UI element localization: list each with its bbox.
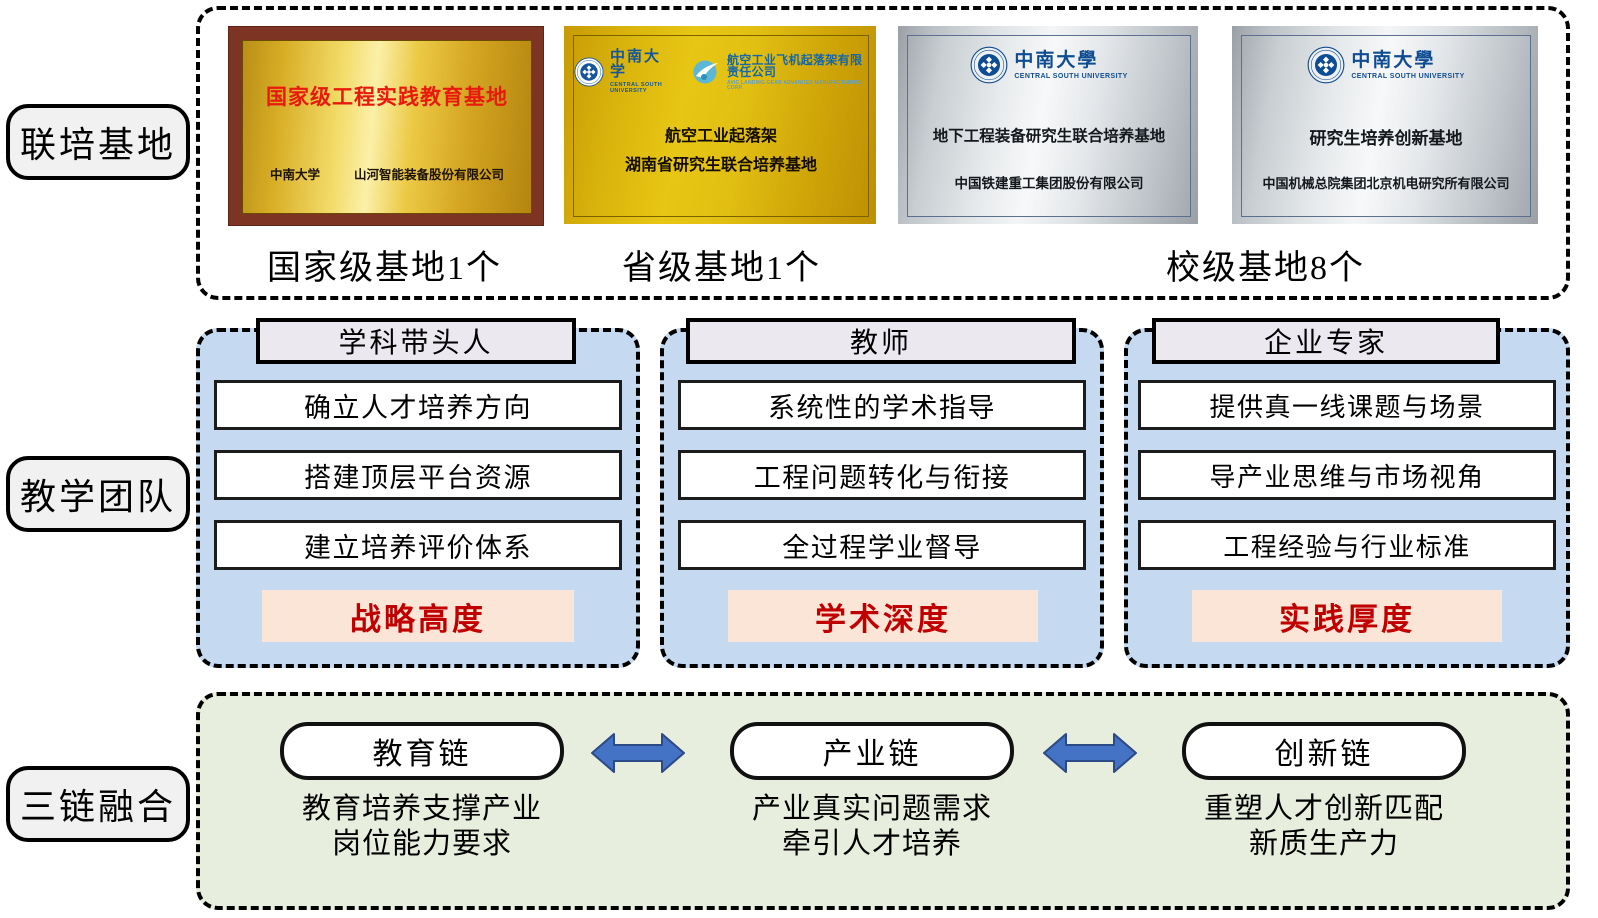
caption-province-base-count: 省级基地1个 xyxy=(622,240,821,289)
team-item: 导产业思维与市场视角 xyxy=(1138,450,1556,500)
csu-logo: 中南大學 CENTRAL SOUTH UNIVERSITY xyxy=(1307,46,1464,84)
row-label-text: 教学团队 xyxy=(20,468,176,520)
team-item: 提供真一线课题与场景 xyxy=(1138,380,1556,430)
csu-logo: 中南大学 CENTRAL SOUTH UNIVERSITY xyxy=(574,50,676,94)
team-item: 搭建顶层平台资源 xyxy=(214,450,622,500)
team-item: 全过程学业督导 xyxy=(678,520,1086,570)
diagram-canvas: 联培基地 教学团队 三链融合 国家级工程实践教育基地 中南大学 山河智能装备股份… xyxy=(0,0,1598,918)
chain-node-innovation: 创新链 xyxy=(1182,722,1466,780)
team-column-header: 学科带头人 xyxy=(256,318,576,364)
csu-logo-cn: 中南大學 xyxy=(1351,51,1464,70)
chain-desc-innovation: 重塑人才创新匹配新质生产力 xyxy=(1174,792,1474,863)
plaque-face: 中南大學 CENTRAL SOUTH UNIVERSITY 研究生培养创新基地 … xyxy=(1241,35,1531,217)
csu-seal-icon xyxy=(970,46,1008,84)
team-column-footer-badge: 实践厚度 xyxy=(1192,590,1502,642)
plaque-main-text: 研究生培养创新基地 xyxy=(1242,124,1530,149)
team-column-enterprise-expert: 企业专家 提供真一线课题与场景 导产业思维与市场视角 工程经验与行业标准 实践厚… xyxy=(1124,328,1570,668)
plaque-title: 国家级工程实践教育基地 xyxy=(243,81,531,111)
csu-logo-en: CENTRAL SOUTH UNIVERSITY xyxy=(1351,73,1464,80)
chain-desc-education: 教育培养支撑产业岗位能力要求 xyxy=(272,792,572,863)
plaque-org-university: 中南大学 xyxy=(270,164,320,183)
csu-logo-cn: 中南大学 xyxy=(610,50,676,80)
plaque-organizations: 中南大学 山河智能装备股份有限公司 xyxy=(243,164,531,183)
plaque-line-2: 湖南省研究生联合培养基地 xyxy=(574,151,868,175)
csu-logo: 中南大學 CENTRAL SOUTH UNIVERSITY xyxy=(970,46,1127,84)
plaque-national-base: 国家级工程实践教育基地 中南大学 山河智能装备股份有限公司 xyxy=(228,26,544,226)
csu-logo-words: 中南大学 CENTRAL SOUTH UNIVERSITY xyxy=(610,50,676,94)
csu-logo-words: 中南大學 CENTRAL SOUTH UNIVERSITY xyxy=(1014,51,1127,80)
row-label-three-chain-integration: 三链融合 xyxy=(6,766,190,842)
team-column-discipline-leader: 学科带头人 确立人才培养方向 搭建顶层平台资源 建立培养评价体系 战略高度 xyxy=(196,328,640,668)
team-item: 工程经验与行业标准 xyxy=(1138,520,1556,570)
double-arrow-icon xyxy=(590,730,686,776)
csu-logo-words: 中南大學 CENTRAL SOUTH UNIVERSITY xyxy=(1351,51,1464,80)
csu-logo-en: CENTRAL SOUTH UNIVERSITY xyxy=(1014,73,1127,80)
plaque-face: 国家级工程实践教育基地 中南大学 山河智能装备股份有限公司 xyxy=(242,40,532,214)
csu-logo-cn: 中南大學 xyxy=(1014,51,1127,70)
csu-seal-icon xyxy=(574,57,604,87)
avic-logo-cn: 航空工业飞机起落架有限责任公司 xyxy=(727,54,868,78)
caption-national-base-count: 国家级基地1个 xyxy=(267,240,502,289)
plaque-province-base: 中南大学 CENTRAL SOUTH UNIVERSITY 航空工业飞机起落架有… xyxy=(564,26,876,224)
row-label-teaching-team: 教学团队 xyxy=(6,456,190,532)
plaque-face: 中南大学 CENTRAL SOUTH UNIVERSITY 航空工业飞机起落架有… xyxy=(573,35,869,217)
row-label-text: 联培基地 xyxy=(20,116,176,168)
plaque-logo-row: 中南大学 CENTRAL SOUTH UNIVERSITY 航空工业飞机起落架有… xyxy=(574,50,868,94)
row-label-text: 三链融合 xyxy=(20,778,176,830)
row-label-joint-training-base: 联培基地 xyxy=(6,104,190,180)
plaque-logo-row: 中南大學 CENTRAL SOUTH UNIVERSITY xyxy=(1242,46,1530,84)
chain-node-industry: 产业链 xyxy=(730,722,1014,780)
plaque-line-1: 航空工业起落架 xyxy=(574,122,868,146)
team-column-footer-badge: 战略高度 xyxy=(262,590,574,642)
chain-desc-industry: 产业真实问题需求牵引人才培养 xyxy=(722,792,1022,863)
team-item: 确立人才培养方向 xyxy=(214,380,622,430)
team-item: 工程问题转化与衔接 xyxy=(678,450,1086,500)
plaque-sinomach-base: 中南大學 CENTRAL SOUTH UNIVERSITY 研究生培养创新基地 … xyxy=(1232,26,1538,224)
avic-logo-words: 航空工业飞机起落架有限责任公司 AVIC LANDING GEAR ADVANC… xyxy=(727,54,868,91)
plaque-crcc-base: 中南大學 CENTRAL SOUTH UNIVERSITY 地下工程装备研究生联… xyxy=(898,26,1198,224)
team-column-header: 教师 xyxy=(686,318,1076,364)
double-arrow-icon xyxy=(1042,730,1138,776)
chain-node-education: 教育链 xyxy=(280,722,564,780)
plaque-face: 中南大學 CENTRAL SOUTH UNIVERSITY 地下工程装备研究生联… xyxy=(907,35,1191,217)
avic-logo-en: AVIC LANDING GEAR ADVANCED MANUFACTURING… xyxy=(727,81,868,91)
team-item: 建立培养评价体系 xyxy=(214,520,622,570)
plaque-org-company: 山河智能装备股份有限公司 xyxy=(354,164,504,183)
avic-mark-icon xyxy=(692,59,722,85)
three-chain-panel: 教育链 产业链 创新链 教育培养支撑产业岗位能力要求 产业真实问题需求牵引人才培… xyxy=(196,692,1570,910)
csu-seal-icon xyxy=(1307,46,1345,84)
caption-school-base-count: 校级基地8个 xyxy=(1166,240,1365,289)
plaque-logo-row: 中南大學 CENTRAL SOUTH UNIVERSITY xyxy=(908,46,1190,84)
plaque-sub-text: 中国机械总院集团北京机电研究所有限公司 xyxy=(1242,173,1530,192)
team-column-teacher: 教师 系统性的学术指导 工程问题转化与衔接 全过程学业督导 学术深度 xyxy=(660,328,1104,668)
csu-logo-en: CENTRAL SOUTH UNIVERSITY xyxy=(610,83,676,94)
avic-landing-gear-logo: 航空工业飞机起落架有限责任公司 AVIC LANDING GEAR ADVANC… xyxy=(692,54,868,91)
team-column-header: 企业专家 xyxy=(1152,318,1500,364)
team-column-footer-badge: 学术深度 xyxy=(728,590,1038,642)
team-item: 系统性的学术指导 xyxy=(678,380,1086,430)
plaque-main-text: 地下工程装备研究生联合培养基地 xyxy=(908,124,1190,146)
plaque-sub-text: 中国铁建重工集团股份有限公司 xyxy=(908,172,1190,192)
